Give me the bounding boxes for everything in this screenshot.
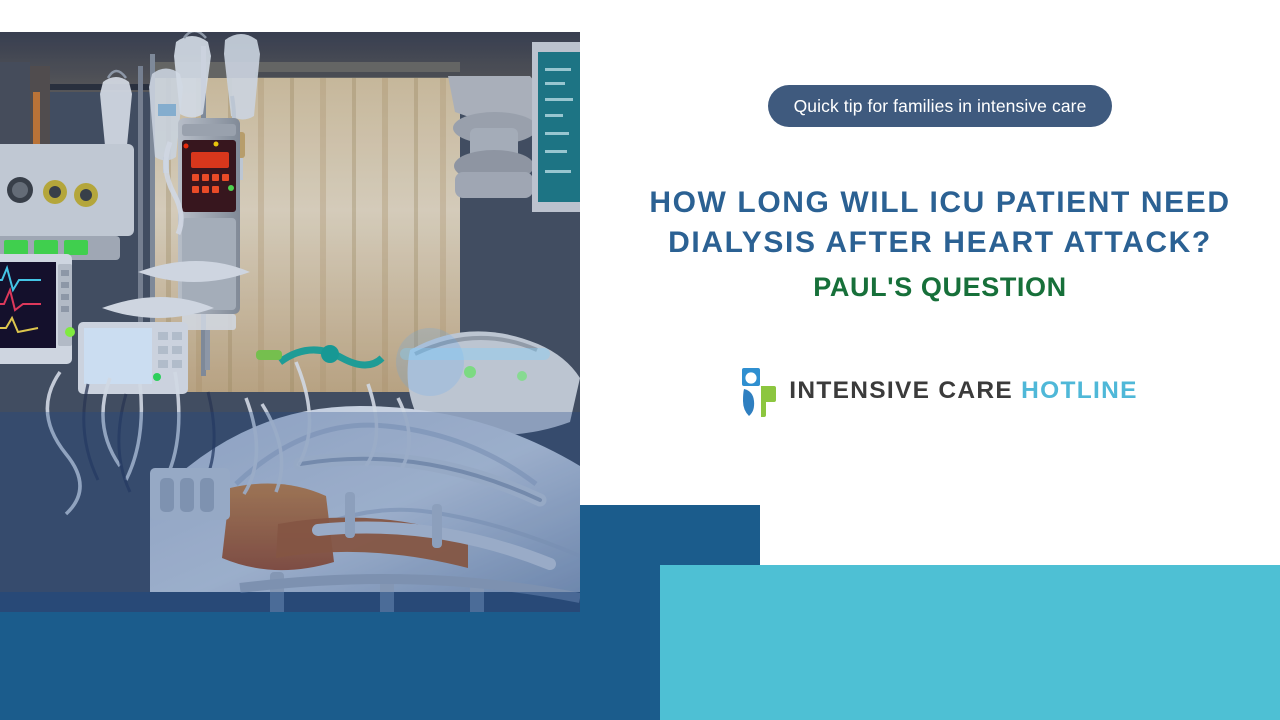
page-title-line-1: HOW LONG WILL ICU PATIENT NEED xyxy=(620,183,1260,223)
page-title-line-2: DIALYSIS AFTER HEART ATTACK? xyxy=(620,223,1260,263)
logo-word-hotline: HOTLINE xyxy=(1021,377,1138,404)
intensive-care-hotline-logo-mark xyxy=(742,365,776,417)
page-subtitle: PAUL'S QUESTION xyxy=(620,272,1260,303)
logo-mark-wrapper xyxy=(742,365,776,417)
logo-wordmark: INTENSIVE CARE HOTLINE xyxy=(789,377,1138,405)
slide-canvas: Quick tip for families in intensive care… xyxy=(0,0,1280,720)
brand-logo: INTENSIVE CARE HOTLINE xyxy=(742,365,1138,417)
quick-tip-badge: Quick tip for families in intensive care xyxy=(768,85,1113,127)
content-column: Quick tip for families in intensive care… xyxy=(600,0,1280,505)
logo-word-intensive-care: INTENSIVE CARE xyxy=(789,377,1013,404)
icu-room-photo xyxy=(0,32,580,612)
page-title: HOW LONG WILL ICU PATIENT NEED DIALYSIS … xyxy=(620,183,1260,263)
decorative-cyan-block xyxy=(660,565,1280,720)
